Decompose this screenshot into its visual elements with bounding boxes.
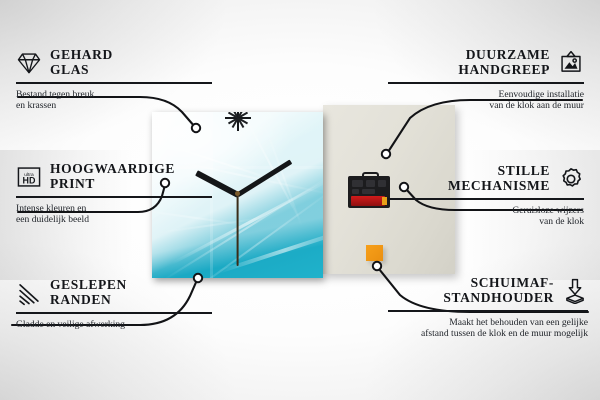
- down-arrow-stack-icon: [562, 278, 588, 304]
- feature-title-line1: GESLEPEN: [50, 278, 127, 293]
- divider: [16, 312, 212, 314]
- feature-title-line1: HOOGWAARDIGE: [50, 162, 175, 177]
- connector-dot-standhouder: [373, 262, 381, 270]
- feature-hoogwaardige-print: ultra HD HOOGWAARDIGE PRINT Intense kleu…: [16, 162, 212, 226]
- feature-desc-line2: van de klok: [388, 216, 584, 228]
- divider: [388, 310, 588, 312]
- feature-stille-mechanisme: STILLE MECHANISME Geruisloze wijzers van…: [388, 164, 584, 228]
- ultra-hd-icon-text-bottom: HD: [23, 175, 36, 185]
- feature-desc-line2: een duidelijk beeld: [16, 214, 212, 226]
- feature-title-line1: DUURZAME: [458, 48, 550, 63]
- feature-title-line1: GEHARD: [50, 48, 113, 63]
- feature-schuimafstandhouder: SCHUIMAF- STANDHOUDER Maakt het behouden…: [388, 276, 588, 340]
- diagonal-lines-icon: [16, 280, 42, 306]
- feature-duurzame-handgreep: DUURZAME HANDGREEP Eenvoudige installati…: [388, 48, 584, 112]
- feature-gehard-glas: GEHARD GLAS Bestand tegen breuk en krass…: [16, 48, 212, 112]
- diamond-icon: [16, 50, 42, 76]
- feature-desc-line1: Intense kleuren en: [16, 203, 212, 215]
- feature-title-line1: SCHUIMAF-: [443, 276, 554, 291]
- feature-desc-line2: van de klok aan de muur: [388, 100, 584, 112]
- feature-title-line1: STILLE: [448, 164, 550, 179]
- feature-desc-line1: Maakt het behouden van een gelijke: [388, 317, 588, 329]
- divider: [388, 82, 584, 84]
- infographic-canvas: GEHARD GLAS Bestand tegen breuk en krass…: [0, 0, 600, 400]
- gear-icon: [558, 166, 584, 192]
- divider: [388, 198, 584, 200]
- feature-desc-line2: en krassen: [16, 100, 212, 112]
- feature-desc-line2: afstand tussen de klok en de muur mogeli…: [388, 328, 588, 340]
- feature-title-line2: GLAS: [50, 63, 113, 78]
- feature-title-line2: HANDGREEP: [458, 63, 550, 78]
- feature-title-line2: PRINT: [50, 177, 175, 192]
- divider: [16, 82, 212, 84]
- feature-title-line2: RANDEN: [50, 293, 127, 308]
- feature-title-line2: STANDHOUDER: [443, 291, 554, 306]
- feature-desc-line1: Geruisloze wijzers: [388, 205, 584, 217]
- connector-dot-gehard-glas: [192, 124, 200, 132]
- feature-title-line2: MECHANISME: [448, 179, 550, 194]
- divider: [16, 196, 212, 198]
- connector-dot-handgreep: [382, 150, 390, 158]
- ultra-hd-icon: ultra HD: [16, 164, 42, 190]
- feature-desc-line1: Gladde en veilige afwerking: [16, 319, 212, 331]
- feature-geslepen-randen: GESLEPEN RANDEN Gladde en veilige afwerk…: [16, 278, 212, 330]
- feature-desc-line1: Bestand tegen breuk: [16, 89, 212, 101]
- picture-frame-icon: [558, 50, 584, 76]
- feature-desc-line1: Eenvoudige installatie: [388, 89, 584, 101]
